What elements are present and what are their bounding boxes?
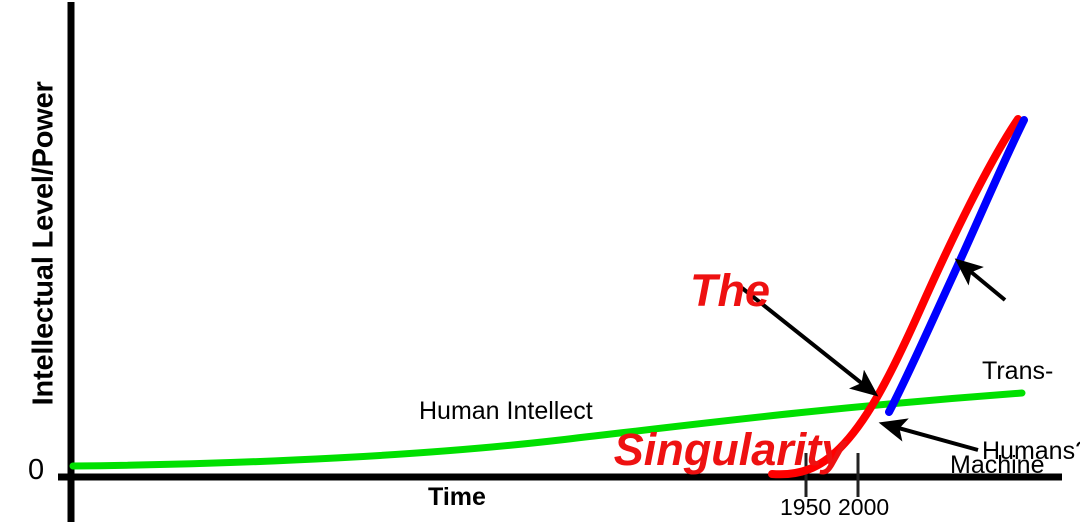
trans-humans-line-1: Trans-: [982, 358, 1080, 385]
trans-humans-line-2: Humans?: [982, 438, 1080, 465]
chart-title-singularity: The Singularity: [570, 158, 890, 529]
y-axis-origin-label: 0: [28, 455, 44, 486]
series-label-trans-humans: Trans- Humans?: [982, 305, 1080, 517]
singularity-chart: Intellectual Level/Power 0 Time 1950 200…: [0, 0, 1080, 529]
trans-humans-arrow: [959, 262, 1005, 300]
singularity-title-line-1: The: [570, 264, 890, 317]
y-axis-label: Intellectual Level/Power: [29, 33, 60, 453]
chart-plot-area: [0, 0, 1080, 529]
singularity-title-line-2: Singularity: [570, 423, 890, 476]
x-axis-label: Time: [428, 484, 486, 511]
series-label-human-intellect: Human Intellect: [419, 398, 593, 425]
